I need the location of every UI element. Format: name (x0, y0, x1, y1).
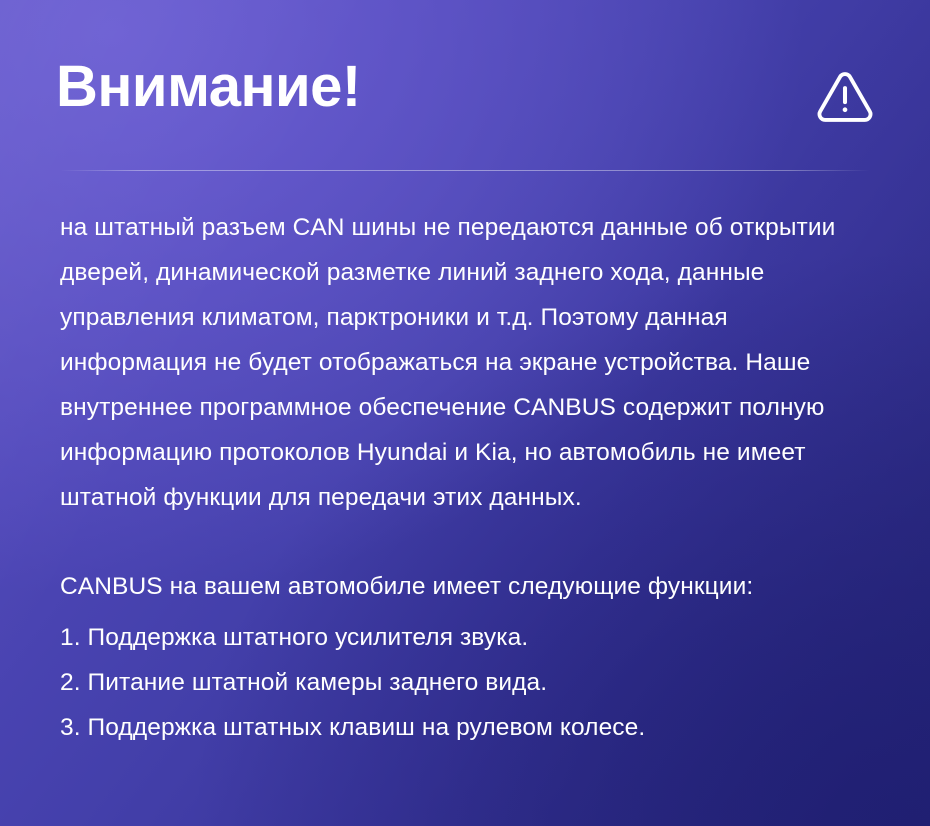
list-item: 1. Поддержка штатного усилителя звука. (60, 615, 875, 660)
functions-block: CANBUS на вашем автомобиле имеет следующ… (60, 564, 875, 750)
warning-triangle-icon (815, 67, 875, 127)
functions-intro: CANBUS на вашем автомобиле имеет следующ… (60, 564, 875, 609)
notice-paragraph: на штатный разъем CAN шины не передаются… (60, 205, 875, 520)
banner-content: на штатный разъем CAN шины не передаются… (60, 205, 875, 750)
banner-header: Внимание! (0, 0, 930, 170)
header-divider (60, 170, 870, 171)
list-item: 2. Питание штатной камеры заднего вида. (60, 660, 875, 705)
functions-list: 1. Поддержка штатного усилителя звука. 2… (60, 615, 875, 750)
page-title: Внимание! (56, 55, 361, 119)
warning-banner: Внимание! на штатный разъем CAN шины не … (0, 0, 930, 826)
list-item: 3. Поддержка штатных клавиш на рулевом к… (60, 705, 875, 750)
